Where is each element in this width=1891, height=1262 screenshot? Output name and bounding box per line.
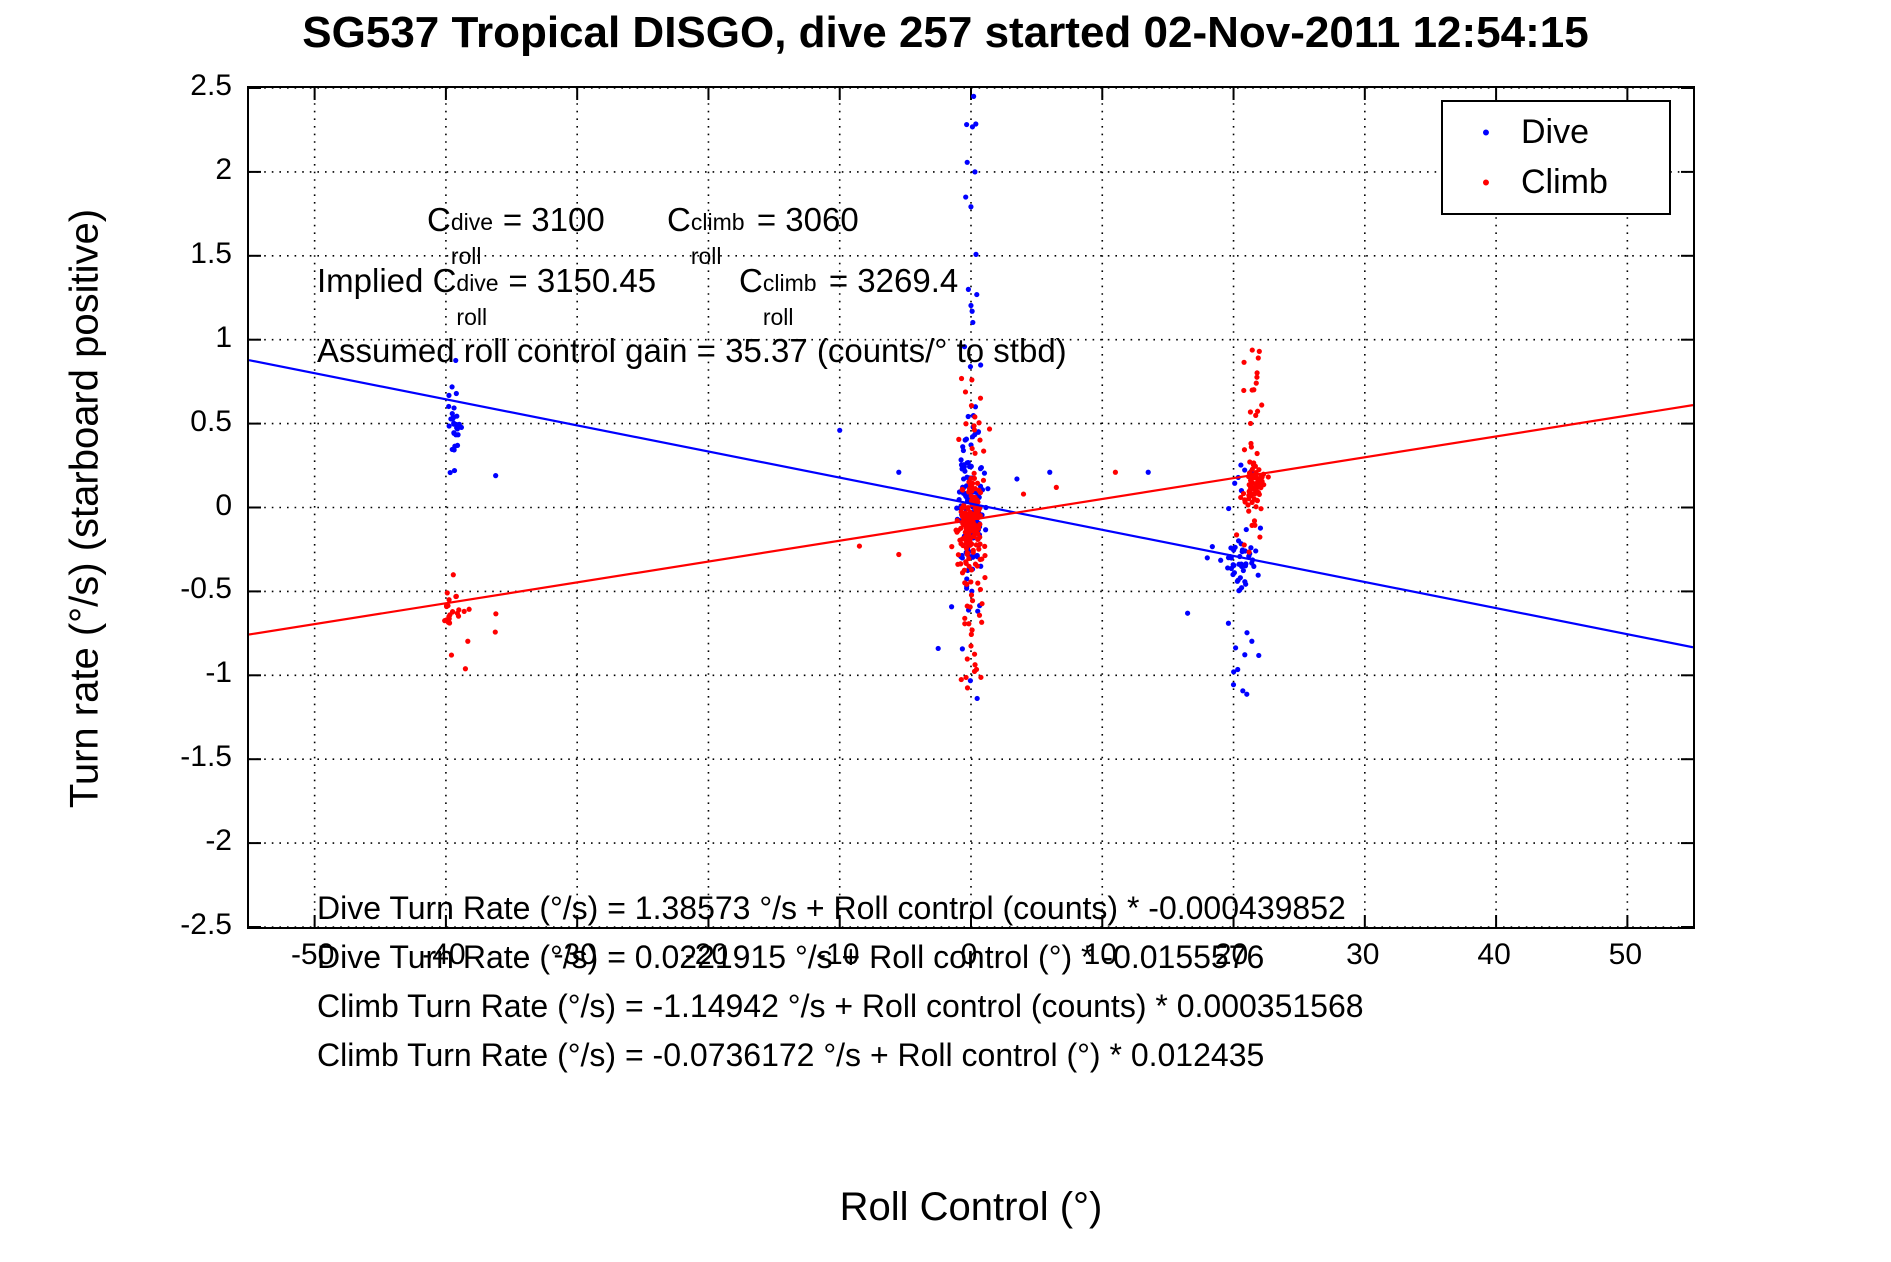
implied-dive-value: = 3150.45 — [508, 262, 656, 299]
equation-climb-counts: Climb Turn Rate (°/s) = -1.14942 °/s + R… — [317, 988, 1364, 1025]
y-tick-label: -1.5 — [180, 740, 232, 774]
croll-climb-sub: roll — [691, 245, 722, 268]
equation-climb-degrees: Climb Turn Rate (°/s) = -0.0736172 °/s +… — [317, 1037, 1264, 1074]
chart-page: SG537 Tropical DISGO, dive 257 started 0… — [0, 0, 1891, 1262]
legend-label-climb: Climb — [1521, 163, 1608, 202]
x-tick-label: 50 — [1609, 938, 1642, 972]
implied-climb-sup: climb — [763, 272, 817, 295]
annotation-gain: Assumed roll control gain = 35.37 (count… — [317, 334, 1067, 367]
y-axis-label: Turn rate (°/s) (starboard positive) — [63, 0, 108, 1059]
croll-climb-value: = 3060 — [757, 201, 859, 238]
x-tick-label: 40 — [1477, 938, 1510, 972]
croll-climb-sup: climb — [691, 211, 745, 234]
implied-dive-sub: roll — [456, 306, 487, 329]
y-axis-label-wrap: Turn rate (°/s) (starboard positive) — [95, 86, 135, 929]
legend-item-climb[interactable]: • Climb — [1457, 158, 1669, 208]
croll-dive-value: = 3100 — [503, 201, 605, 238]
legend[interactable]: • Dive • Climb — [1441, 100, 1671, 215]
y-tick-label: -2 — [205, 824, 232, 858]
legend-item-dive[interactable]: • Dive — [1457, 108, 1669, 158]
annotation-implied-climb: Cclimbroll= 3269.4 — [739, 264, 958, 297]
implied-climb-symbol: C — [739, 262, 763, 299]
legend-dot-climb-icon: • — [1457, 172, 1515, 194]
y-tick-label: 0 — [215, 489, 232, 523]
x-tick-label: 30 — [1346, 938, 1379, 972]
croll-dive-symbol: C — [427, 201, 451, 238]
y-tick-label: 0.5 — [190, 405, 232, 439]
y-tick-label: -1 — [205, 656, 232, 690]
equation-dive-counts: Dive Turn Rate (°/s) = 1.38573 °/s + Rol… — [317, 890, 1346, 927]
legend-label-dive: Dive — [1521, 113, 1589, 152]
y-tick-label: -0.5 — [180, 572, 232, 606]
annotation-croll-climb: Cclimbroll= 3060 — [667, 203, 859, 236]
x-axis-label: Roll Control (°) — [247, 1185, 1695, 1230]
annotation-implied-dive: Implied Cdiveroll= 3150.45 — [317, 264, 656, 297]
page-title: SG537 Tropical DISGO, dive 257 started 0… — [0, 8, 1891, 58]
implied-climb-value: = 3269.4 — [829, 262, 958, 299]
implied-dive-sup: dive — [456, 272, 498, 295]
scatter-series-dive — [446, 94, 1263, 701]
y-tick-label: 1.5 — [190, 237, 232, 271]
equation-dive-degrees: Dive Turn Rate (°/s) = 0.0221915 °/s + R… — [317, 939, 1264, 976]
implied-climb-sub: roll — [763, 306, 794, 329]
legend-dot-dive-icon: • — [1457, 122, 1515, 144]
croll-dive-sup: dive — [451, 211, 493, 234]
y-axis-ticks: -2.5-2-1.5-1-0.500.511.522.5 — [140, 86, 232, 929]
y-tick-label: 2 — [215, 153, 232, 187]
scatter-series-climb — [442, 347, 1271, 690]
y-tick-label: 2.5 — [190, 69, 232, 103]
implied-dive-symbol: C — [433, 262, 457, 299]
y-tick-label: 1 — [215, 321, 232, 355]
annotation-croll-dive: Cdiveroll= 3100 — [427, 203, 605, 236]
y-tick-label: -2.5 — [180, 908, 232, 942]
implied-prefix: Implied — [317, 262, 423, 299]
croll-climb-symbol: C — [667, 201, 691, 238]
plot-area: Cdiveroll= 3100 Cclimbroll= 3060 Implied… — [247, 86, 1695, 929]
